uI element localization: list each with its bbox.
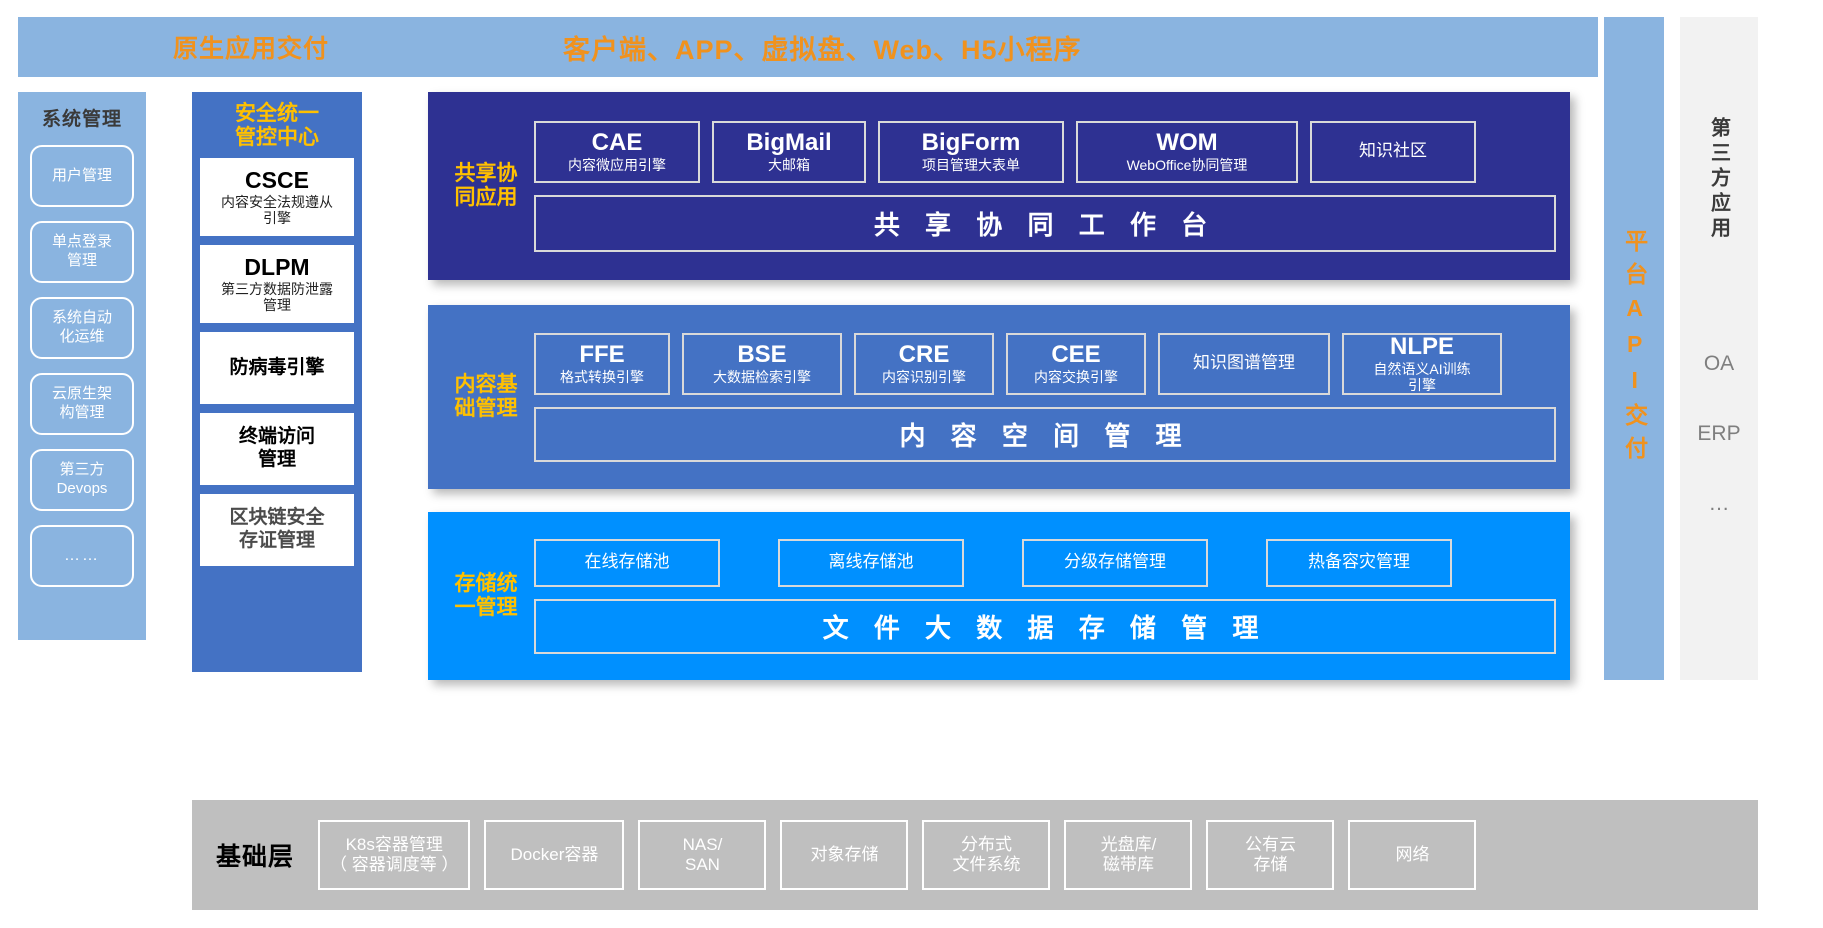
bar-file-bigdata-storage-management[interactable]: 文 件 大 数 据 存 储 管 理 [534, 599, 1556, 654]
third-party-apps-title: 第三方应用 [1705, 117, 1734, 242]
chip-ffe[interactable]: FFE 格式转换引擎 [534, 333, 670, 395]
base-chip-public-cloud-storage[interactable]: 公有云存储 [1206, 820, 1334, 890]
base-chip-network[interactable]: 网络 [1348, 820, 1476, 890]
chip-code: CRE [899, 342, 950, 368]
sidebar-item-sso-management[interactable]: 单点登录管理 [30, 221, 134, 283]
bar-shared-collaboration-workbench[interactable]: 共 享 协 同 工 作 台 [534, 195, 1556, 252]
chip-label: 离线存储池 [829, 552, 914, 572]
chip-desc: 内容识别引擎 [882, 369, 966, 385]
base-chip-docker-container[interactable]: Docker容器 [484, 820, 624, 890]
chip-cae[interactable]: CAE 内容微应用引擎 [534, 121, 700, 183]
system-management-panel: 系统管理 用户管理 单点登录管理 系统自动化运维 云原生架构管理 第三方Devo… [18, 92, 146, 640]
chip-row-storage: 在线存储池 离线存储池 分级存储管理 热备容灾管理 [534, 539, 1556, 587]
third-party-item-more[interactable]: … [1709, 492, 1730, 516]
chip-wom[interactable]: WOM WebOffice协同管理 [1076, 121, 1298, 183]
architecture-diagram: 原生应用交付 客户端、APP、虚拟盘、Web、H5小程序 系统管理 用户管理 单… [0, 0, 1823, 928]
chip-code: BSE [737, 342, 786, 368]
chip-label: 知识社区 [1359, 141, 1427, 161]
chip-hot-standby-dr-management[interactable]: 热备容灾管理 [1266, 539, 1452, 587]
chip-code: CAE [592, 130, 643, 156]
chip-desc: 格式转换引擎 [560, 369, 644, 385]
security-item-blockchain-evidence[interactable]: 区块链安全存证管理 [200, 494, 354, 566]
layer-label-storage-unified: 存储统一管理 [442, 572, 530, 619]
bar-content-space-management[interactable]: 内 容 空 间 管 理 [534, 407, 1556, 462]
sidebar-item-label: …… [64, 546, 100, 566]
security-item-label: 终端访问管理 [239, 426, 315, 472]
security-item-dlpm[interactable]: DLPM 第三方数据防泄露管理 [200, 245, 354, 323]
layer-body-storage-unified: 在线存储池 离线存储池 分级存储管理 热备容灾管理 文 件 大 数 据 存 储 … [530, 512, 1570, 680]
base-chip-distributed-filesystem[interactable]: 分布式文件系统 [922, 820, 1050, 890]
security-item-code: DLPM [244, 255, 309, 280]
layer-body-shared-collaboration: CAE 内容微应用引擎 BigMail 大邮箱 BigForm 项目管理大表单 … [530, 92, 1570, 280]
chip-desc: 大邮箱 [768, 157, 810, 173]
security-item-desc: 内容安全法规遵从引擎 [221, 194, 333, 226]
chip-cre[interactable]: CRE 内容识别引擎 [854, 333, 994, 395]
chip-desc: 大数据检索引擎 [713, 369, 811, 385]
sidebar-item-automation-ops[interactable]: 系统自动化运维 [30, 297, 134, 359]
sidebar-item-cloud-native-arch[interactable]: 云原生架构管理 [30, 373, 134, 435]
chip-desc: 自然语义AI训练引擎 [1373, 361, 1470, 393]
chip-code: CEE [1051, 342, 1100, 368]
base-chip-object-storage[interactable]: 对象存储 [780, 820, 908, 890]
third-party-item-erp[interactable]: ERP [1697, 422, 1740, 446]
chip-nlpe[interactable]: NLPE 自然语义AI训练引擎 [1342, 333, 1502, 395]
security-item-label: 区块链安全存证管理 [229, 507, 324, 553]
chip-row-content-base: FFE 格式转换引擎 BSE 大数据检索引擎 CRE 内容识别引擎 CEE 内容… [534, 333, 1556, 395]
chip-label: 分级存储管理 [1064, 552, 1166, 572]
sidebar-item-label: 单点登录管理 [52, 233, 112, 271]
chip-offline-storage-pool[interactable]: 离线存储池 [778, 539, 964, 587]
base-chip-optical-tape-library[interactable]: 光盘库/磁带库 [1064, 820, 1192, 890]
sidebar-item-label: 第三方Devops [57, 461, 108, 499]
sidebar-item-third-party-devops[interactable]: 第三方Devops [30, 449, 134, 511]
layer-body-content-base: FFE 格式转换引擎 BSE 大数据检索引擎 CRE 内容识别引擎 CEE 内容… [530, 305, 1570, 489]
chip-code: NLPE [1390, 334, 1454, 360]
chip-bse[interactable]: BSE 大数据检索引擎 [682, 333, 842, 395]
security-control-center-panel: 安全统一管控中心 CSCE 内容安全法规遵从引擎 DLPM 第三方数据防泄露管理… [192, 92, 362, 672]
layer-label-shared-collaboration: 共享协同应用 [442, 162, 530, 209]
chip-knowledge-community[interactable]: 知识社区 [1310, 121, 1476, 183]
chip-code: BigMail [746, 130, 831, 156]
native-app-delivery-label: 原生应用交付 [173, 29, 329, 65]
sidebar-item-label: 用户管理 [52, 167, 112, 186]
security-item-antivirus-engine[interactable]: 防病毒引擎 [200, 332, 354, 404]
sidebar-item-user-management[interactable]: 用户管理 [30, 145, 134, 207]
sidebar-item-label: 云原生架构管理 [52, 385, 112, 423]
chip-bigmail[interactable]: BigMail 大邮箱 [712, 121, 866, 183]
chip-cee[interactable]: CEE 内容交换引擎 [1006, 333, 1146, 395]
third-party-item-oa[interactable]: OA [1704, 352, 1734, 376]
security-item-code: CSCE [245, 168, 309, 193]
chip-online-storage-pool[interactable]: 在线存储池 [534, 539, 720, 587]
chip-label: 知识图谱管理 [1193, 353, 1295, 373]
chip-code: FFE [579, 342, 624, 368]
security-item-desc: 第三方数据防泄露管理 [221, 281, 333, 313]
layer-content-base-management: 内容基础管理 FFE 格式转换引擎 BSE 大数据检索引擎 CRE 内容识别引擎… [428, 305, 1570, 489]
chip-row-shared-collaboration: CAE 内容微应用引擎 BigMail 大邮箱 BigForm 项目管理大表单 … [534, 121, 1556, 183]
chip-knowledge-graph[interactable]: 知识图谱管理 [1158, 333, 1330, 395]
system-management-title: 系统管理 [42, 104, 122, 131]
platform-api-delivery-column: 平台API交付 [1604, 17, 1664, 680]
layer-shared-collaboration: 共享协同应用 CAE 内容微应用引擎 BigMail 大邮箱 BigForm 项… [428, 92, 1570, 280]
layer-label-content-base: 内容基础管理 [442, 373, 530, 420]
client-channels-label: 客户端、APP、虚拟盘、Web、H5小程序 [563, 28, 1082, 67]
base-chip-nas-san[interactable]: NAS/SAN [638, 820, 766, 890]
security-item-terminal-access[interactable]: 终端访问管理 [200, 413, 354, 485]
security-item-csce[interactable]: CSCE 内容安全法规遵从引擎 [200, 158, 354, 236]
chip-desc: 内容微应用引擎 [568, 157, 666, 173]
chip-desc: 内容交换引擎 [1034, 369, 1118, 385]
third-party-apps-column: 第三方应用 OA ERP … [1680, 17, 1758, 680]
chip-code: WOM [1156, 130, 1217, 156]
chip-label: 热备容灾管理 [1308, 552, 1410, 572]
sidebar-item-more[interactable]: …… [30, 525, 134, 587]
sidebar-item-label: 系统自动化运维 [52, 309, 112, 347]
base-layer-title: 基础层 [216, 837, 294, 873]
layer-storage-unified-management: 存储统一管理 在线存储池 离线存储池 分级存储管理 热备容灾管理 文 件 大 数… [428, 512, 1570, 680]
chip-desc: 项目管理大表单 [922, 157, 1020, 173]
security-item-label: 防病毒引擎 [229, 357, 324, 380]
chip-desc: WebOffice协同管理 [1127, 157, 1248, 173]
top-delivery-banner: 原生应用交付 客户端、APP、虚拟盘、Web、H5小程序 [18, 17, 1598, 77]
base-infrastructure-layer: 基础层 K8s容器管理（ 容器调度等 ） Docker容器 NAS/SAN 对象… [192, 800, 1758, 910]
chip-tiered-storage-management[interactable]: 分级存储管理 [1022, 539, 1208, 587]
chip-code: BigForm [922, 130, 1021, 156]
security-panel-title: 安全统一管控中心 [235, 102, 319, 150]
chip-label: 在线存储池 [585, 552, 670, 572]
chip-bigform[interactable]: BigForm 项目管理大表单 [878, 121, 1064, 183]
base-chip-k8s-container-management[interactable]: K8s容器管理（ 容器调度等 ） [318, 820, 470, 890]
platform-api-delivery-label: 平台API交付 [1621, 229, 1646, 469]
